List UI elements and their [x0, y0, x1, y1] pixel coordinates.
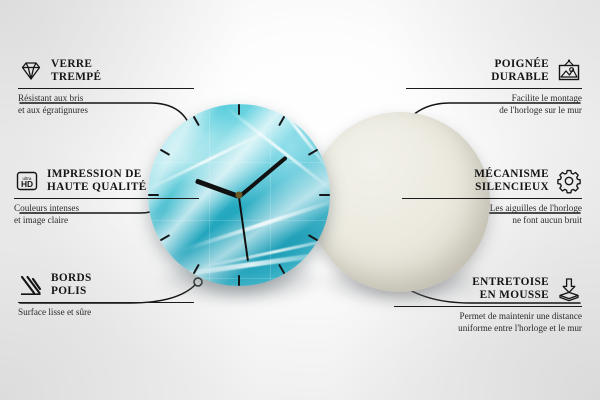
divider: [402, 198, 582, 199]
feature-bords-polis[interactable]: BORDS POLIS Surface lisse et sûre: [18, 272, 194, 319]
feature-description: Facilite le montage de l'horloge sur le …: [406, 93, 582, 116]
desc-line-2: ne font aucun bruit: [512, 215, 582, 225]
title-line-1: BORDS: [51, 272, 92, 284]
feature-mecanisme-silencieux[interactable]: MÉCANISME SILENCIEUX Les aiguilles de l'…: [402, 168, 582, 226]
feature-description: Résistant aux bris et aux égratignures: [18, 93, 194, 116]
hour-tick: [238, 104, 240, 115]
feature-header: BORDS POLIS: [18, 272, 194, 298]
foam-spacer-icon: [556, 276, 582, 302]
desc-line-2: et image claire: [14, 215, 68, 225]
hands-center-cap: [236, 192, 243, 199]
polished-edges-icon: [18, 272, 44, 298]
title-line-1: IMPRESSION DE: [47, 168, 142, 180]
title-line-2: DURABLE: [491, 71, 549, 83]
title-line-2: POLIS: [51, 285, 87, 297]
feature-title: MÉCANISME SILENCIEUX: [474, 168, 549, 193]
feature-header: ENTRETOISE EN MOUSSE: [394, 276, 582, 302]
feature-header: ultra HD IMPRESSION DE HAUTE QUALITÉ: [14, 168, 199, 194]
feature-title: POIGNÉE DURABLE: [491, 58, 549, 83]
feature-header: MÉCANISME SILENCIEUX: [402, 168, 582, 194]
feature-title: IMPRESSION DE HAUTE QUALITÉ: [47, 168, 147, 193]
feature-poignee-durable[interactable]: POIGNÉE DURABLE Facilite le montage de l…: [406, 58, 582, 116]
divider: [18, 88, 194, 89]
gear-icon: [556, 168, 582, 194]
divider: [14, 198, 199, 199]
feature-description: Surface lisse et sûre: [18, 307, 194, 318]
hour-tick: [238, 275, 240, 286]
desc-line-2: de l'horloge sur le mur: [499, 105, 582, 115]
desc-line-1: Permet de maintenir une distance: [460, 311, 582, 321]
feature-title: BORDS POLIS: [51, 272, 92, 297]
desc-line-1: Facilite le montage: [512, 93, 582, 103]
feature-description: Permet de maintenir une distance uniform…: [394, 311, 582, 334]
desc-line-2: et aux égratignures: [18, 105, 88, 115]
title-line-2: TREMPÉ: [51, 71, 101, 83]
desc-line-1: Surface lisse et sûre: [18, 307, 91, 317]
feature-verre-trempe[interactable]: VERRE TREMPÉ Résistant aux bris et aux é…: [18, 58, 194, 116]
feature-header: VERRE TREMPÉ: [18, 58, 194, 84]
hour-tick: [319, 194, 330, 196]
desc-line-1: Résistant aux bris: [18, 93, 83, 103]
svg-text:HD: HD: [21, 179, 33, 189]
feature-entretoise-en-mousse[interactable]: ENTRETOISE EN MOUSSE Permet de maintenir…: [394, 276, 582, 334]
feature-title: ENTRETOISE EN MOUSSE: [472, 276, 549, 301]
title-line-2: SILENCIEUX: [475, 181, 549, 193]
feature-description: Les aiguilles de l'horloge ne font aucun…: [402, 203, 582, 226]
diamond-icon: [18, 58, 44, 84]
title-line-2: HAUTE QUALITÉ: [47, 181, 147, 193]
title-line-1: POIGNÉE: [494, 58, 549, 70]
desc-line-1: Les aiguilles de l'horloge: [490, 203, 582, 213]
infographic-canvas: VERRE TREMPÉ Résistant aux bris et aux é…: [0, 0, 600, 400]
divider: [406, 88, 582, 89]
title-line-2: EN MOUSSE: [480, 289, 549, 301]
desc-line-2: uniforme entre l'horloge et le mur: [458, 323, 582, 333]
desc-line-1: Couleurs intenses: [14, 203, 79, 213]
title-line-1: ENTRETOISE: [472, 276, 549, 288]
picture-hanger-icon: [556, 58, 582, 84]
feature-impression-haute-qualite[interactable]: ultra HD IMPRESSION DE HAUTE QUALITÉ Cou…: [14, 168, 199, 226]
title-line-1: VERRE: [51, 58, 92, 70]
divider: [394, 306, 582, 307]
feature-title: VERRE TREMPÉ: [51, 58, 101, 83]
feature-description: Couleurs intenses et image claire: [14, 203, 199, 226]
divider: [18, 302, 194, 303]
ultra-hd-icon: ultra HD: [14, 168, 40, 194]
title-line-1: MÉCANISME: [474, 168, 549, 180]
feature-header: POIGNÉE DURABLE: [406, 58, 582, 84]
